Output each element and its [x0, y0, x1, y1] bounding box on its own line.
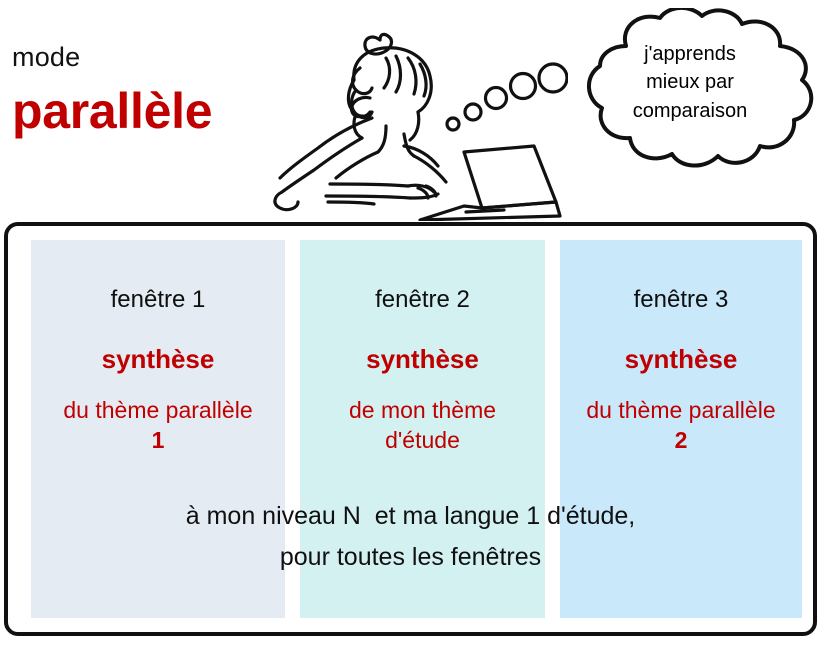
windows-frame: fenêtre 1 synthèse du thème parallèle 1 …	[4, 222, 817, 636]
mode-label: mode	[12, 44, 80, 71]
thought-bubble: j'apprends mieux par comparaison	[556, 8, 824, 173]
window-label-1: fenêtre 1	[31, 288, 285, 312]
footer-note-line-1: à mon niveau N et ma langue 1 d'étude,	[8, 496, 813, 537]
window-detail-2: de mon thème d'étude	[300, 396, 545, 456]
footer-note-line-2: pour toutes les fenêtres	[8, 537, 813, 578]
window-detail-number-2: d'étude	[385, 427, 460, 453]
footer-note: à mon niveau N et ma langue 1 d'étude, p…	[8, 496, 813, 579]
thought-bubble-line-2: mieux par	[556, 68, 824, 96]
window-detail-text-2: de mon thème	[349, 397, 496, 423]
thought-bubble-text: j'apprends mieux par comparaison	[556, 40, 824, 125]
window-label-2: fenêtre 2	[300, 288, 545, 312]
window-detail-3: du thème parallèle 2	[560, 396, 802, 456]
window-label-3: fenêtre 3	[560, 288, 802, 312]
synthese-label-2: synthèse	[300, 346, 545, 372]
page-title: parallèle	[12, 84, 212, 139]
window-detail-text-3: du thème parallèle	[586, 397, 775, 423]
window-detail-number-3: 2	[675, 427, 688, 453]
window-detail-number-1: 1	[152, 427, 165, 453]
window-detail-1: du thème parallèle 1	[31, 396, 285, 456]
synthese-label-3: synthèse	[560, 346, 802, 372]
header-area: mode parallèle	[0, 0, 829, 220]
window-detail-text-1: du thème parallèle	[63, 397, 252, 423]
columns-container: fenêtre 1 synthèse du thème parallèle 1 …	[8, 226, 813, 632]
thought-bubble-line-1: j'apprends	[556, 40, 824, 68]
thought-bubble-line-3: comparaison	[556, 97, 824, 125]
synthese-label-1: synthèse	[31, 346, 285, 372]
person-thinking-at-laptop-illustration	[268, 6, 568, 221]
